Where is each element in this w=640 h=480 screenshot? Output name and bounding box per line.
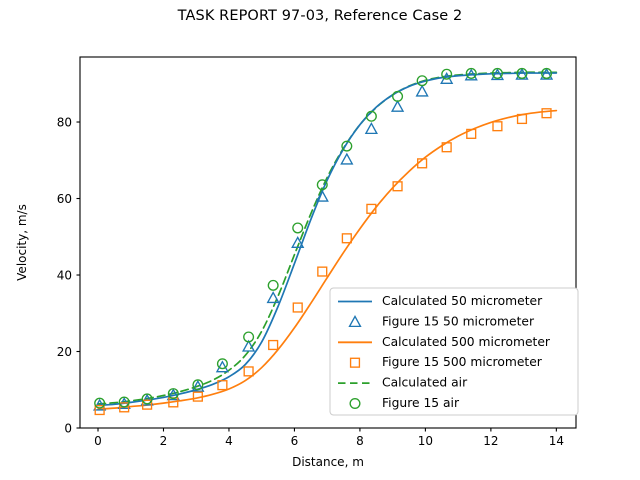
marker-square [318, 267, 327, 276]
x-tick-label: 0 [94, 434, 102, 448]
legend-label: Calculated 500 micrometer [382, 335, 551, 349]
marker-square [244, 367, 253, 376]
x-tick-label: 4 [225, 434, 233, 448]
marker-square [493, 122, 502, 131]
y-tick-label: 0 [64, 421, 72, 435]
chart-legend[interactable]: Calculated 50 micrometerFigure 15 50 mic… [330, 288, 578, 415]
plot-canvas: 02468101214020406080Distance, mVelocity,… [0, 0, 640, 480]
x-tick-label: 8 [356, 434, 364, 448]
marker-triangle [417, 86, 428, 96]
matplotlib-figure: TASK REPORT 97-03, Reference Case 2 0246… [0, 0, 640, 480]
marker-square [293, 303, 302, 312]
legend-label: Calculated air [382, 376, 468, 390]
marker-triangle [268, 292, 279, 302]
marker-circle [268, 281, 278, 291]
marker-triangle [392, 101, 403, 111]
x-tick-label: 14 [549, 434, 564, 448]
legend-label: Figure 15 50 micrometer [382, 314, 535, 328]
x-tick-label: 12 [483, 434, 498, 448]
y-tick-label: 60 [57, 192, 72, 206]
x-tick-label: 2 [160, 434, 168, 448]
y-tick-label: 80 [57, 115, 72, 129]
marker-triangle [366, 123, 377, 133]
x-tick-label: 6 [291, 434, 299, 448]
legend-label: Calculated 50 micrometer [382, 294, 543, 308]
marker-triangle [341, 154, 352, 164]
y-tick-label: 40 [57, 268, 72, 282]
x-axis-title: Distance, m [292, 455, 364, 469]
marker-square [542, 109, 551, 118]
y-tick-label: 20 [57, 345, 72, 359]
marker-circle [293, 223, 303, 233]
marker-circle [393, 92, 403, 102]
legend-label: Figure 15 air [382, 396, 460, 410]
y-axis-title: Velocity, m/s [15, 204, 29, 281]
legend-label: Figure 15 500 micrometer [382, 355, 543, 369]
marker-square [269, 341, 278, 350]
x-tick-label: 10 [418, 434, 433, 448]
marker-square [342, 234, 351, 243]
